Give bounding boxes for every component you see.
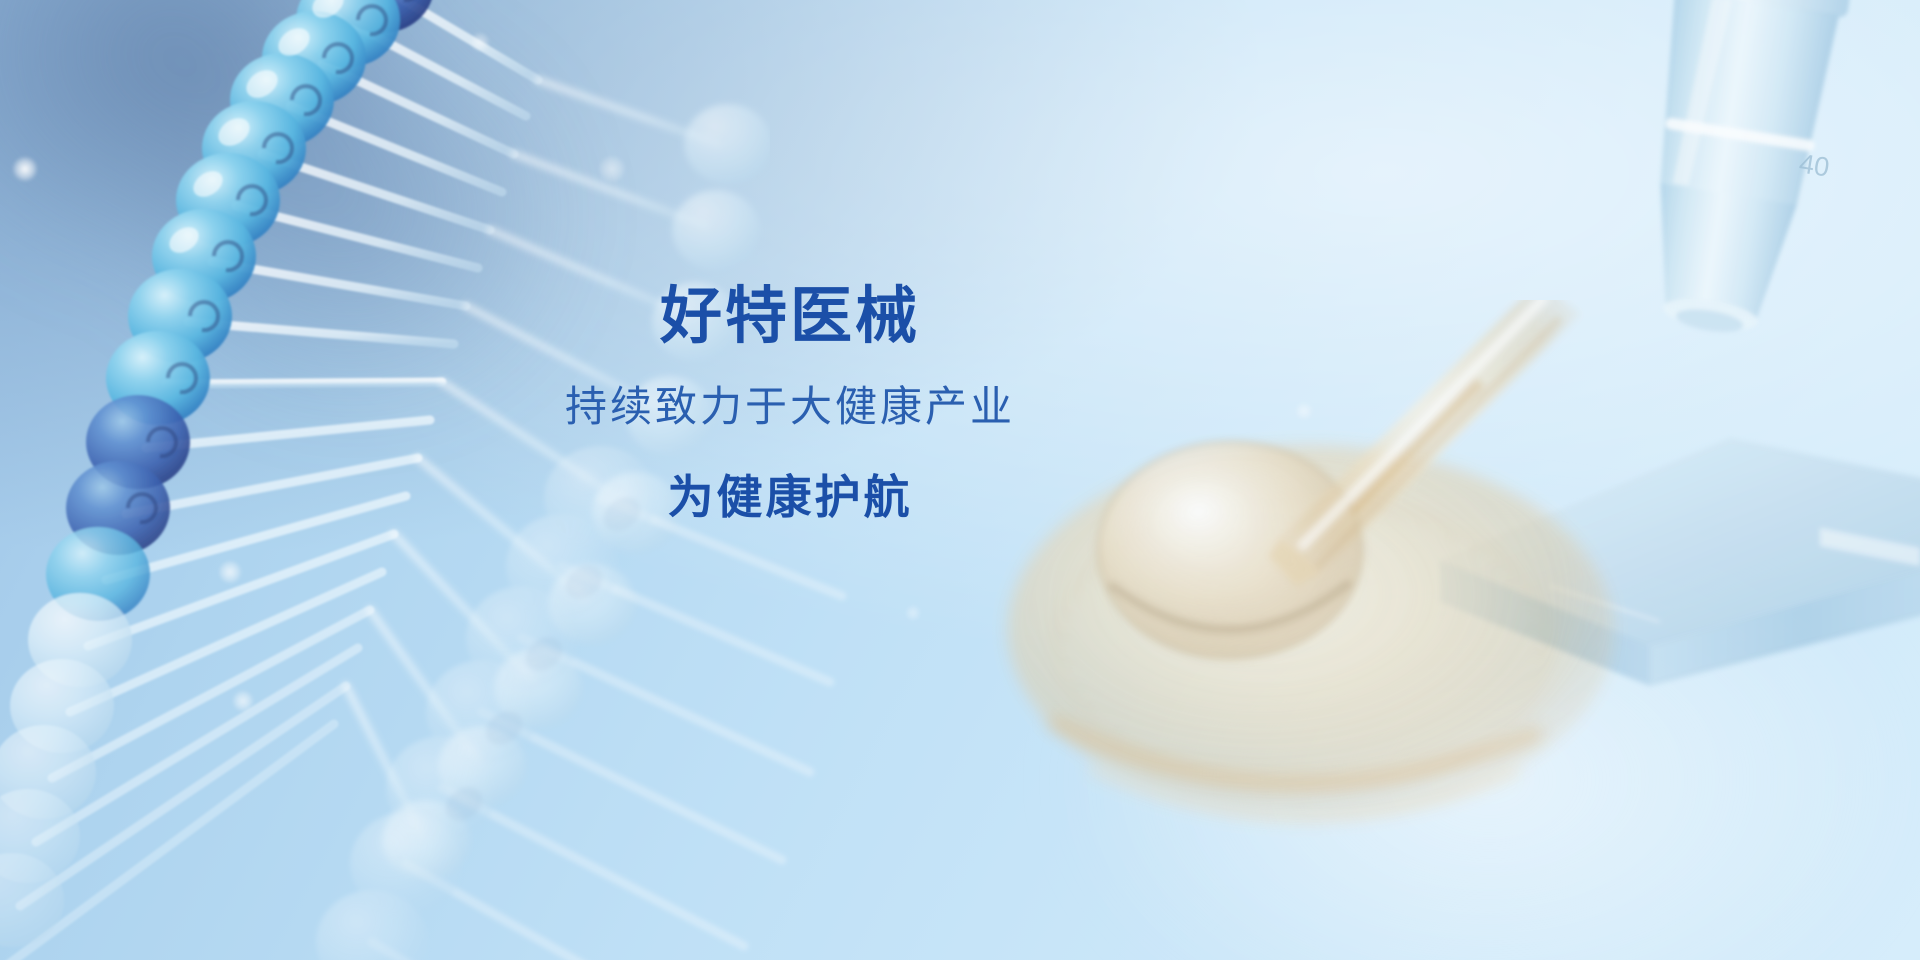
bokeh-speck	[470, 32, 490, 52]
bokeh-speck	[12, 156, 38, 182]
bokeh-speck	[905, 605, 921, 621]
bokeh-speck	[232, 690, 254, 712]
bokeh-speck	[218, 560, 242, 584]
hero-copy: 好特医械 持续致力于大健康产业 为健康护航	[0, 286, 1580, 520]
objective-magnification-label: 40	[1797, 148, 1831, 182]
hero-slogan: 为健康护航	[0, 474, 1580, 520]
hero-subtitle: 持续致力于大健康产业	[0, 386, 1580, 428]
bokeh-speck	[598, 155, 626, 183]
hero-banner: 40	[0, 0, 1920, 960]
page-title: 好特医械	[0, 286, 1580, 348]
